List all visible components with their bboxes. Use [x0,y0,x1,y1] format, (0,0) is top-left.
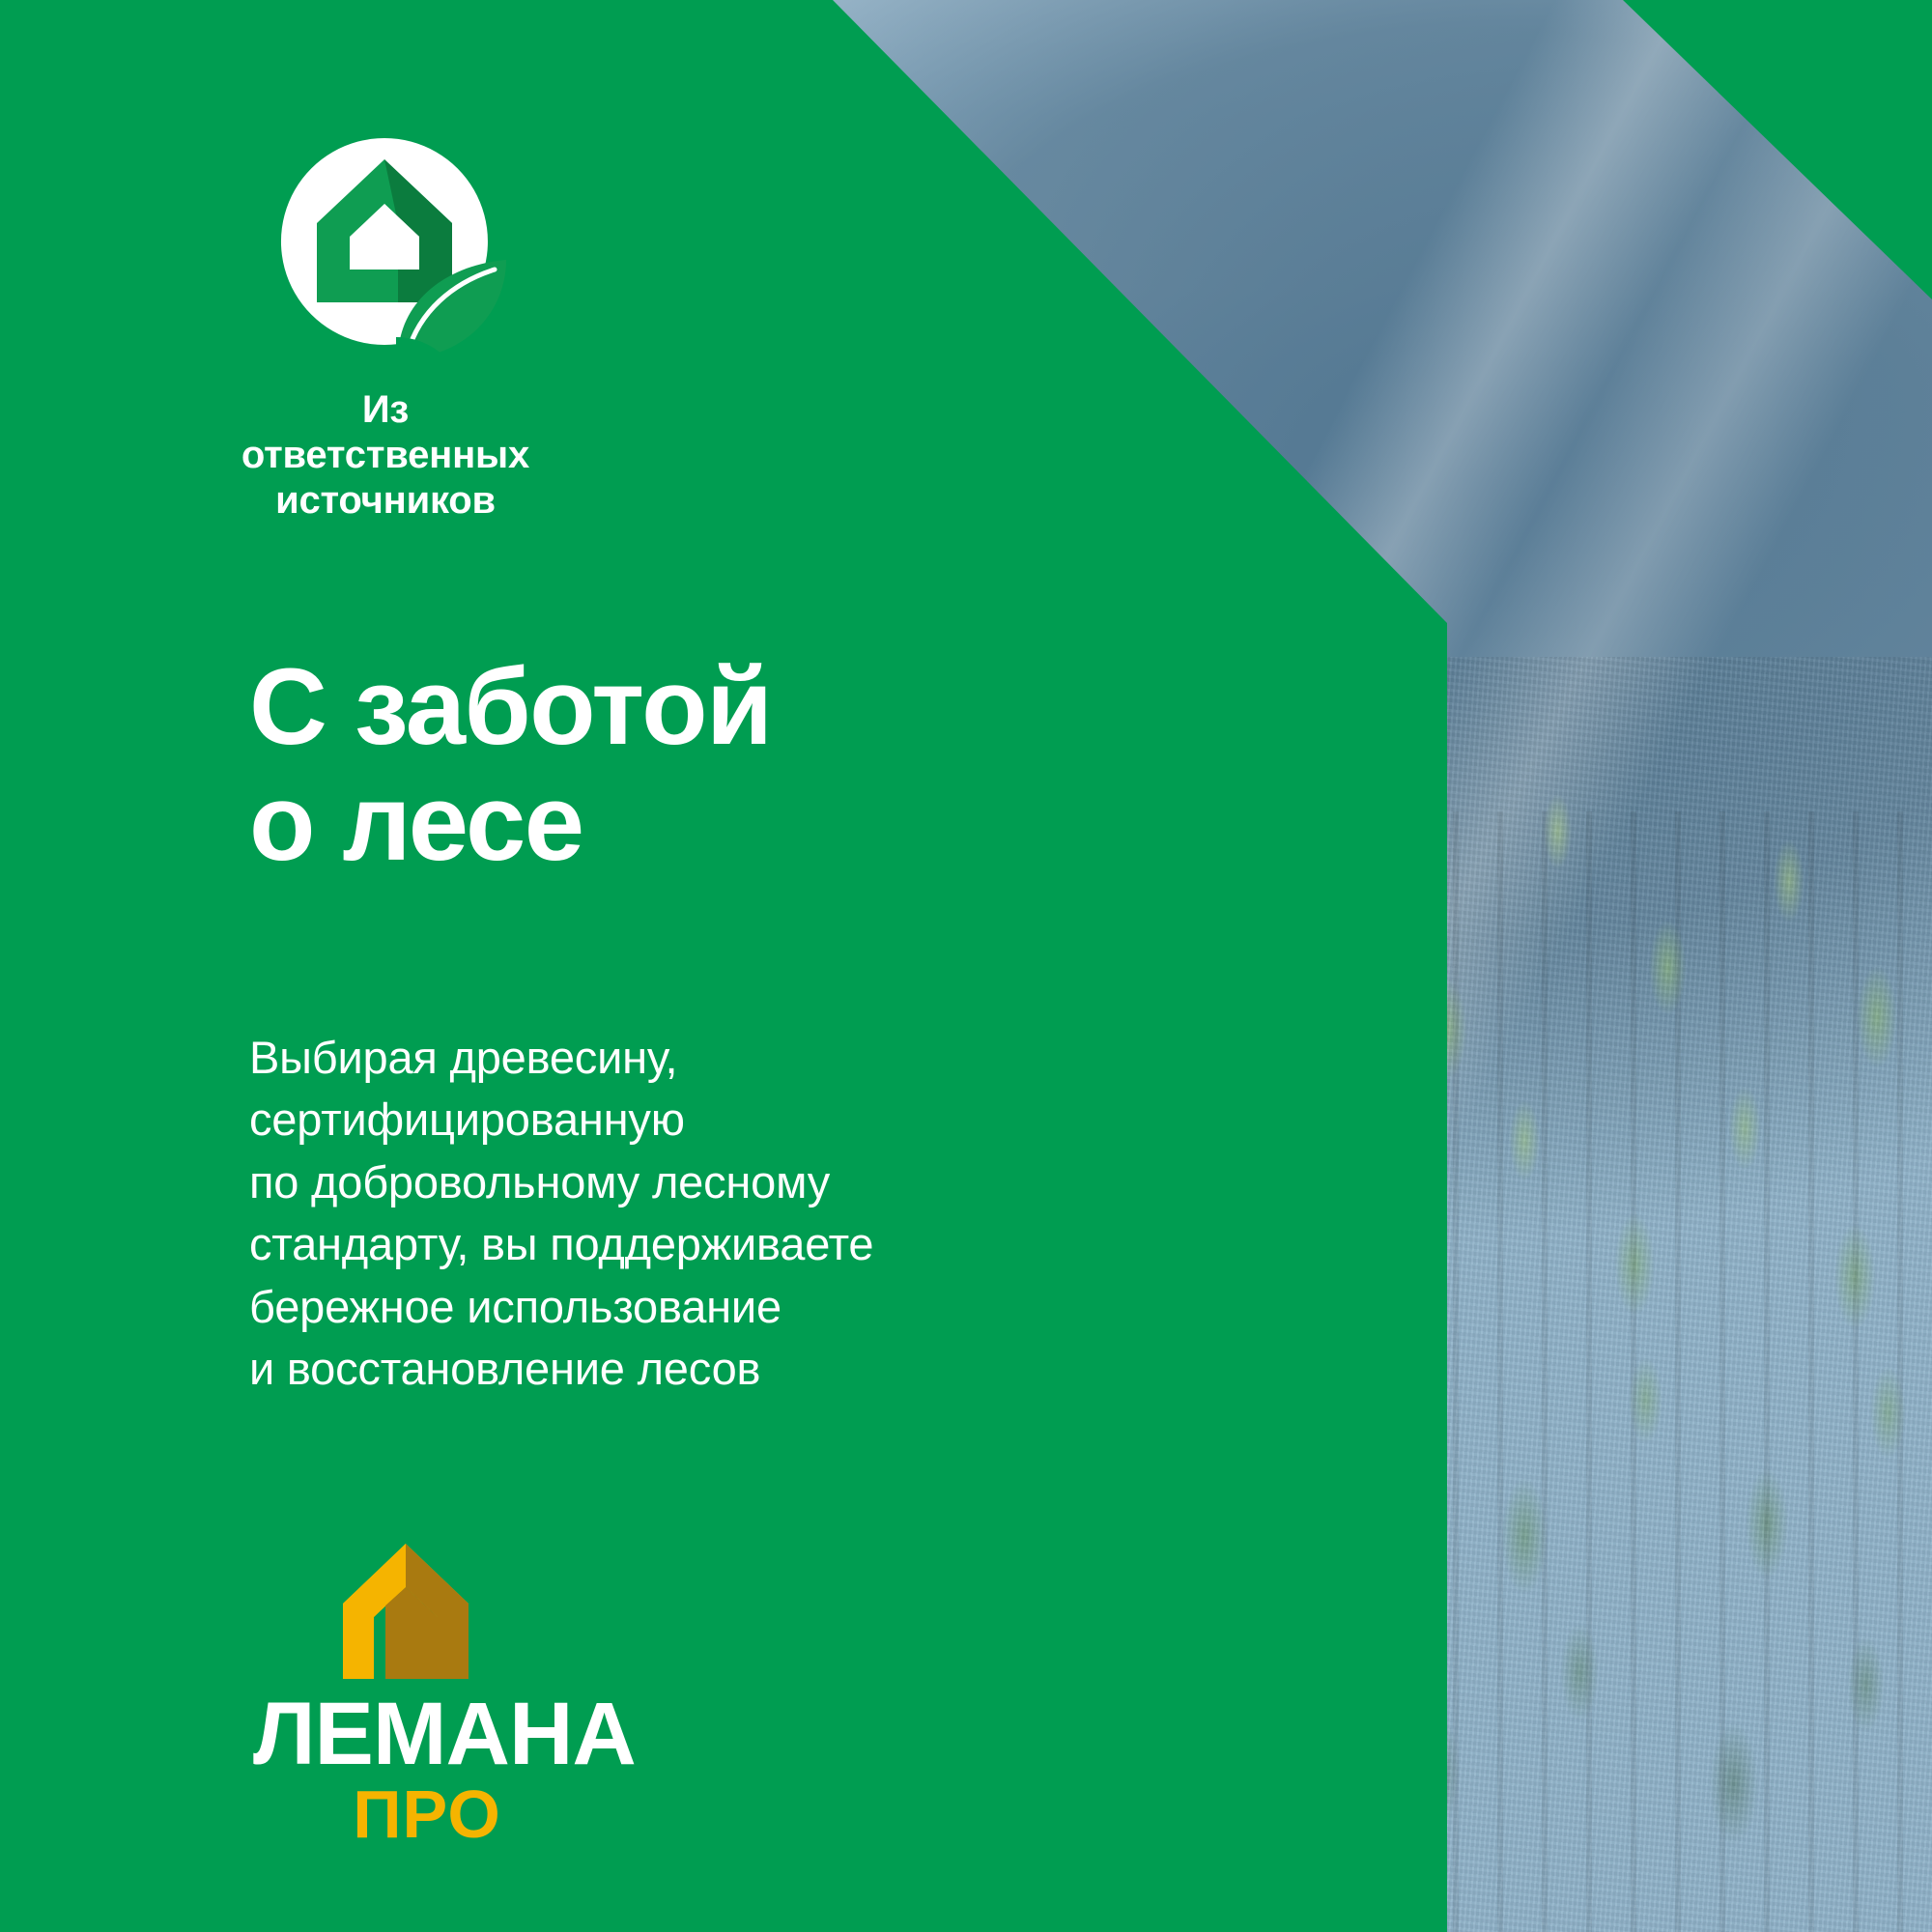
poster-canvas: Из ответственных источников С заботой о … [0,0,1932,1932]
brand-logo: ЛЕМАНА ПРО [253,1544,601,1848]
body-paragraph: Выбирая древесину, сертифицированную по … [249,1027,873,1400]
house-leaf-circle-icon [253,130,516,372]
lemana-house-icon [343,1544,469,1679]
brand-wordmark: ЛЕМАНА [253,1692,601,1776]
page-title: С заботой о лесе [249,649,771,881]
brand-sub-wordmark: ПРО [253,1780,601,1848]
certification-caption: Из ответственных источников [226,387,545,525]
certification-badge: Из ответственных источников [253,130,562,525]
